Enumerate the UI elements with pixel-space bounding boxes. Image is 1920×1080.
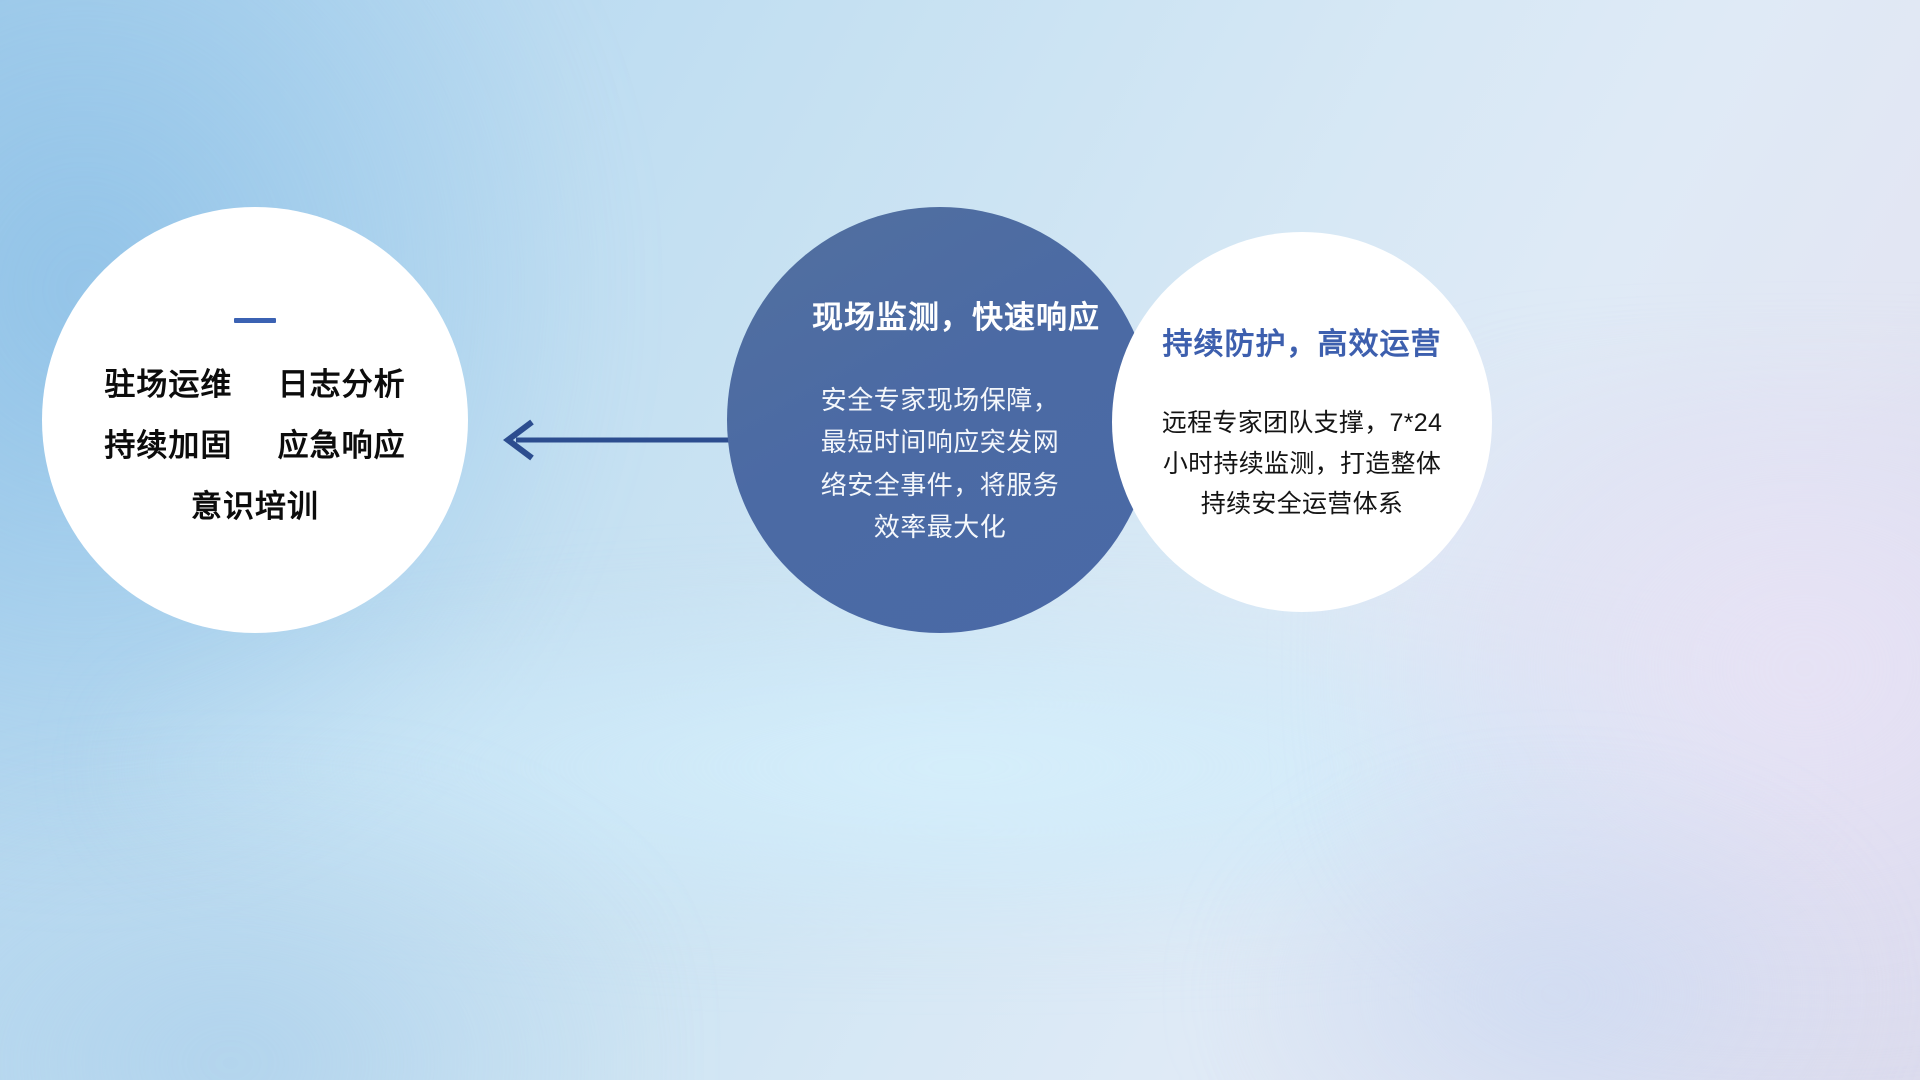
capability-circle-right[interactable]: 持续防护，高效运营 远程专家团队支撑，7*24 小时持续监测，打造整体 持续安全…	[1112, 232, 1492, 612]
circle-body-right: 远程专家团队支撑，7*24 小时持续监测，打造整体 持续安全运营体系	[1162, 403, 1442, 525]
capability-tag: 日志分析	[278, 367, 406, 402]
capability-row-2: 持续加固 应急响应	[104, 430, 405, 461]
circle-title-middle: 现场监测，快速响应	[812, 292, 1100, 337]
capability-row-3: 意识培训	[191, 491, 319, 522]
background-glow-bottom-right	[1229, 778, 1882, 1080]
capability-row-1: 驻场运维 日志分析	[104, 369, 405, 400]
divider-dash	[234, 318, 276, 323]
body-line: 最短时间响应突发网	[821, 421, 1060, 463]
capability-circle-left[interactable]: 驻场运维 日志分析 持续加固 应急响应 意识培训	[42, 207, 468, 633]
capability-tag: 驻场运维	[104, 367, 232, 402]
background-glow-bottom-left	[0, 778, 653, 1080]
slide-canvas: 驻场运维 日志分析 持续加固 应急响应 意识培训 现场监测，快速响应 安全专家现…	[0, 0, 1920, 1080]
body-line: 持续安全运营体系	[1162, 484, 1442, 525]
arrow-left-icon	[482, 408, 732, 472]
capability-tag: 意识培训	[191, 489, 319, 524]
capability-tag: 应急响应	[278, 428, 406, 463]
circle-body-middle: 安全专家现场保障， 最短时间响应突发网 络安全事件，将服务 效率最大化	[821, 379, 1060, 547]
body-line: 远程专家团队支撑，7*24	[1162, 403, 1442, 444]
body-line: 小时持续监测，打造整体	[1162, 444, 1442, 485]
circle-title-right: 持续防护，高效运营	[1163, 319, 1442, 363]
body-line: 安全专家现场保障，	[821, 379, 1060, 421]
body-line: 效率最大化	[821, 506, 1060, 548]
capability-circle-middle[interactable]: 现场监测，快速响应 安全专家现场保障， 最短时间响应突发网 络安全事件，将服务 …	[727, 207, 1153, 633]
capability-tag: 持续加固	[104, 428, 232, 463]
body-line: 络安全事件，将服务	[821, 464, 1060, 506]
